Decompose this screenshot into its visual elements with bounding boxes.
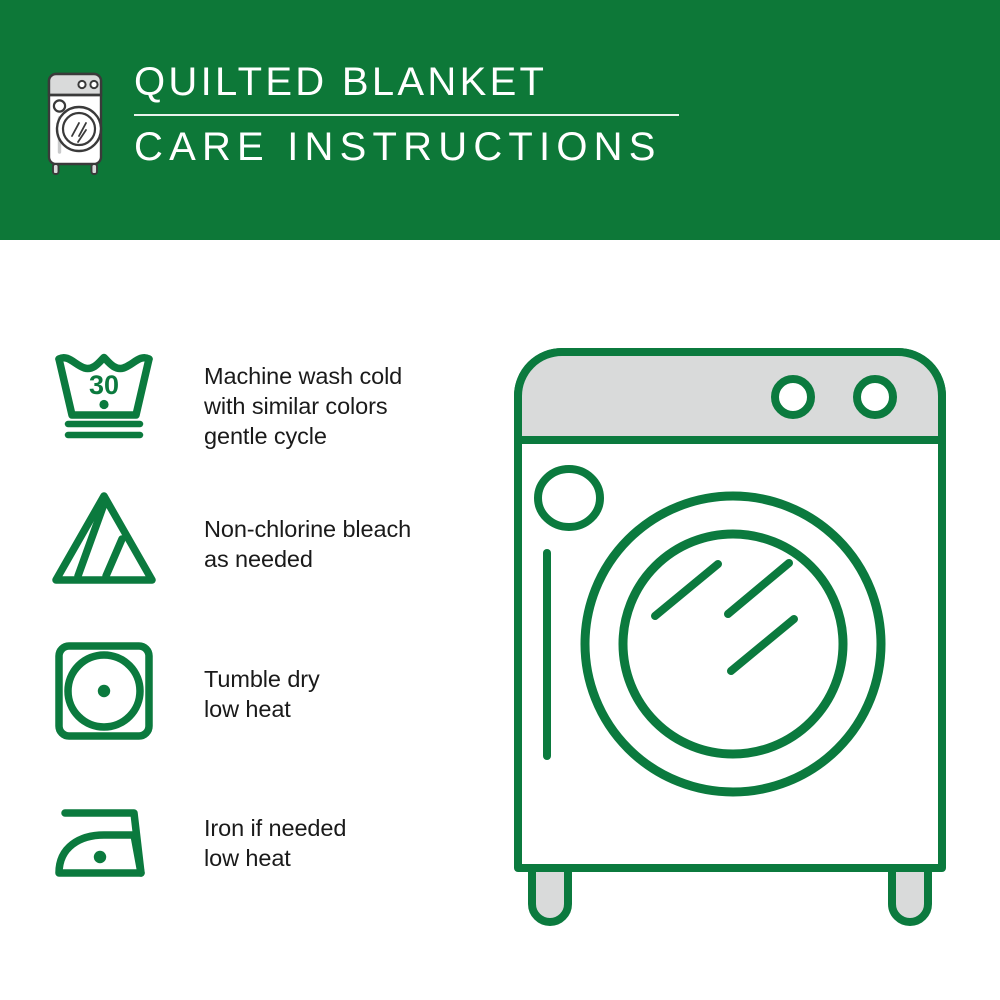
- wash-basin-30-icon: 30: [48, 345, 160, 449]
- care-instruction-text: Tumble dry low heat: [204, 640, 320, 724]
- knob-right-icon[interactable]: [857, 379, 893, 415]
- header-banner: QUILTED BLANKET CARE INSTRUCTIONS: [0, 0, 1000, 240]
- page-title-primary: QUILTED BLANKET: [134, 62, 679, 112]
- leg-left: [532, 868, 568, 922]
- care-instruction-item: Iron if needed low heat: [48, 795, 346, 899]
- care-instruction-item: 30 Machine wash cold with similar colors…: [48, 345, 402, 451]
- title-divider: [134, 114, 679, 116]
- washing-machine-icon: [44, 68, 112, 180]
- care-instructions-page: QUILTED BLANKET CARE INSTRUCTIONS 30 Mac…: [0, 0, 1000, 1000]
- door-inner-ring[interactable]: [623, 534, 843, 754]
- care-instruction-text: Machine wash cold with similar colors ge…: [204, 345, 402, 451]
- tumble-dry-one-dot-icon: [48, 640, 160, 744]
- header-content: QUILTED BLANKET CARE INSTRUCTIONS: [44, 62, 679, 180]
- header-title-block: QUILTED BLANKET CARE INSTRUCTIONS: [134, 62, 679, 168]
- care-instruction-item: Tumble dry low heat: [48, 640, 320, 744]
- dial-icon[interactable]: [538, 469, 600, 527]
- care-instruction-text: Non-chlorine bleach as needed: [204, 488, 411, 574]
- knob-left-icon[interactable]: [775, 379, 811, 415]
- iron-one-dot-icon: [48, 795, 160, 899]
- washing-machine-graphic: [490, 326, 970, 926]
- triangle-stripes-bleach-icon: [48, 488, 160, 592]
- leg-right: [892, 868, 928, 922]
- wash-temperature-value: 30: [89, 370, 119, 400]
- care-instruction-list: 30 Machine wash cold with similar colors…: [0, 240, 470, 1000]
- care-instruction-text: Iron if needed low heat: [204, 795, 346, 873]
- page-title-secondary: CARE INSTRUCTIONS: [134, 126, 679, 168]
- care-instruction-item: Non-chlorine bleach as needed: [48, 488, 411, 592]
- washing-machine-illustration: [490, 326, 970, 926]
